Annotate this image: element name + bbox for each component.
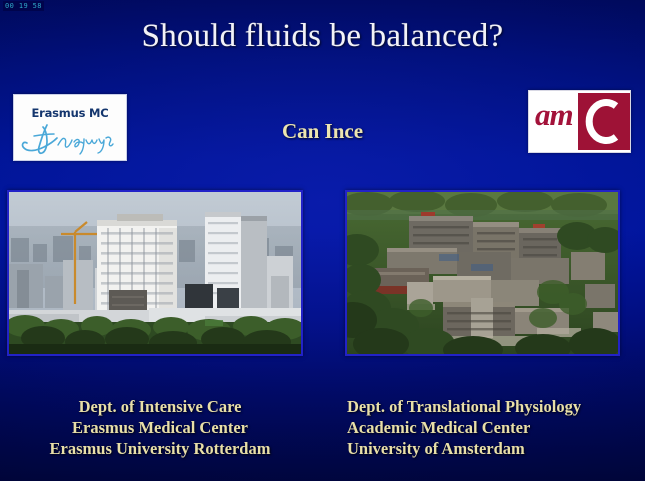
affiliation-amc: Dept. of Translational Physiology Academ… xyxy=(347,396,581,459)
photo-amc-aerial xyxy=(345,190,620,356)
affiliation-amc-line-3: University of Amsterdam xyxy=(347,438,581,459)
photo-rotterdam-skyline xyxy=(7,190,303,356)
presenter-name: Can Ince xyxy=(0,119,645,144)
affiliation-erasmus-line-1: Dept. of Intensive Care xyxy=(0,396,320,417)
presentation-slide: 00 19 58 Should fluids be balanced? Eras… xyxy=(0,0,645,481)
recording-timestamp: 00 19 58 xyxy=(3,1,44,11)
affiliation-erasmus-line-2: Erasmus Medical Center xyxy=(0,417,320,438)
erasmus-mc-wordmark: Erasmus MC xyxy=(14,106,126,120)
affiliation-erasmus-line-3: Erasmus University Rotterdam xyxy=(0,438,320,459)
affiliation-amc-line-1: Dept. of Translational Physiology xyxy=(347,396,581,417)
affiliation-amc-line-2: Academic Medical Center xyxy=(347,417,581,438)
affiliation-erasmus: Dept. of Intensive Care Erasmus Medical … xyxy=(0,396,320,459)
slide-title: Should fluids be balanced? xyxy=(0,18,645,55)
